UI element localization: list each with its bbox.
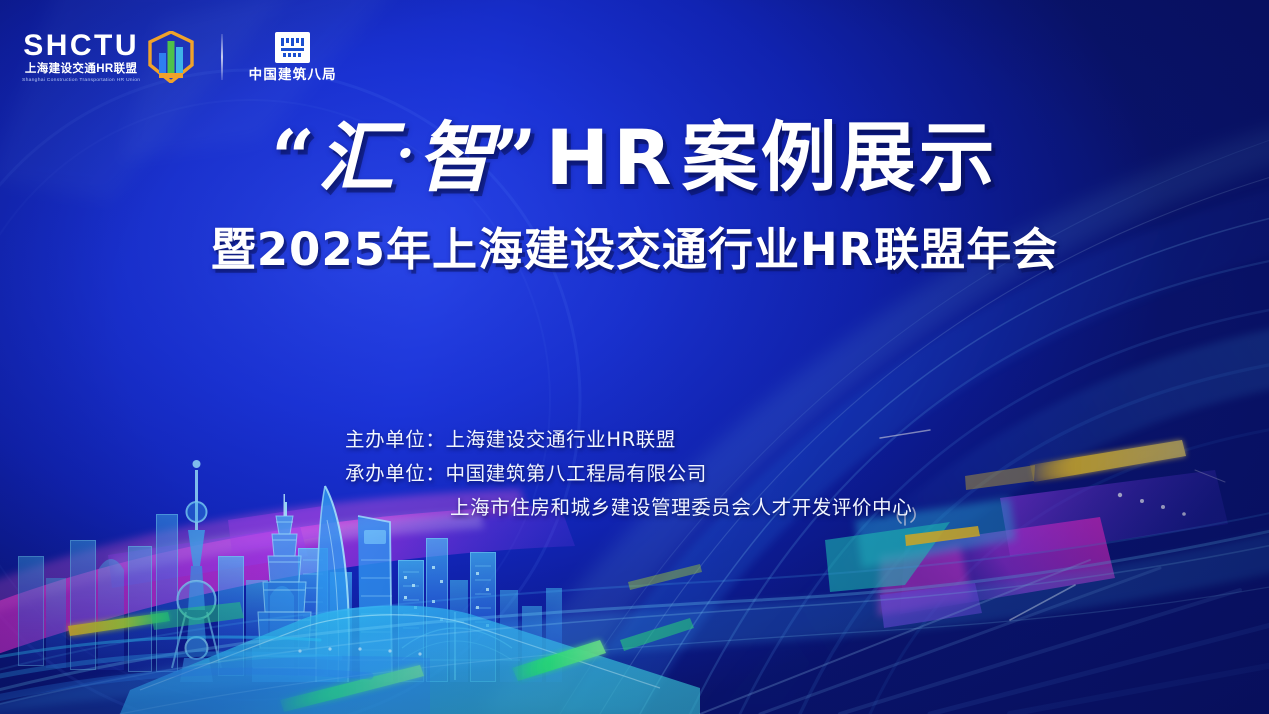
shctu-chinese-name: 上海建设交通HR联盟	[25, 64, 138, 76]
brush-dot: ·	[394, 121, 417, 185]
main-title: “汇·智”HR案例展示	[0, 118, 1269, 197]
subtitle: 暨2025年上海建设交通行业HR联盟年会	[0, 213, 1269, 278]
building-blocks-mark	[147, 31, 195, 83]
brush-word-hui: 汇	[318, 113, 394, 202]
shctu-acronym: SHCTU	[23, 31, 139, 61]
organizer-block: 主办单位：上海建设交通行业HR联盟 承办单位：中国建筑第八工程局有限公司 上海市…	[345, 423, 912, 525]
poster-canvas: SHCTU 上海建设交通HR联盟 Shanghai Construction T…	[0, 0, 1269, 714]
organizer-value-coorganizer: 中国建筑第八工程局有限公司	[446, 462, 707, 485]
organizer-label-coorganizer: 承办单位：	[345, 462, 446, 485]
quote-open-mark: “	[271, 113, 318, 202]
shctu-logo[interactable]: SHCTU 上海建设交通HR联盟 Shanghai Construction T…	[22, 31, 195, 83]
organizer-value-coorganizer-2: 上海市住房和城乡建设管理委员会人才开发评价中心	[450, 496, 912, 519]
organizer-line-coorganizer-2: 上海市住房和城乡建设管理委员会人才开发评价中心	[345, 491, 912, 525]
cscec-emblem	[275, 32, 310, 63]
shctu-english-name: Shanghai Construction Transportation HR …	[22, 78, 140, 83]
title-hr: HR	[540, 113, 682, 202]
brush-word-zhi: 智	[417, 113, 493, 202]
logo-bar: SHCTU 上海建设交通HR联盟 Shanghai Construction T…	[22, 24, 337, 90]
title-block: “汇·智”HR案例展示 暨2025年上海建设交通行业HR联盟年会	[0, 118, 1269, 278]
cscec-logo[interactable]: 中国建筑八局	[249, 32, 337, 82]
quote-close-mark: ”	[493, 113, 540, 202]
title-rest: 案例展示	[682, 113, 998, 202]
organizer-line-host: 主办单位：上海建设交通行业HR联盟	[345, 423, 912, 457]
organizer-line-coorganizer: 承办单位：中国建筑第八工程局有限公司	[345, 457, 912, 491]
organizer-value-host: 上海建设交通行业HR联盟	[446, 428, 676, 451]
background-vignette	[0, 0, 1269, 714]
logo-divider	[221, 34, 222, 80]
cscec-chinese-name: 中国建筑八局	[249, 68, 337, 82]
organizer-label-host: 主办单位：	[345, 428, 446, 451]
